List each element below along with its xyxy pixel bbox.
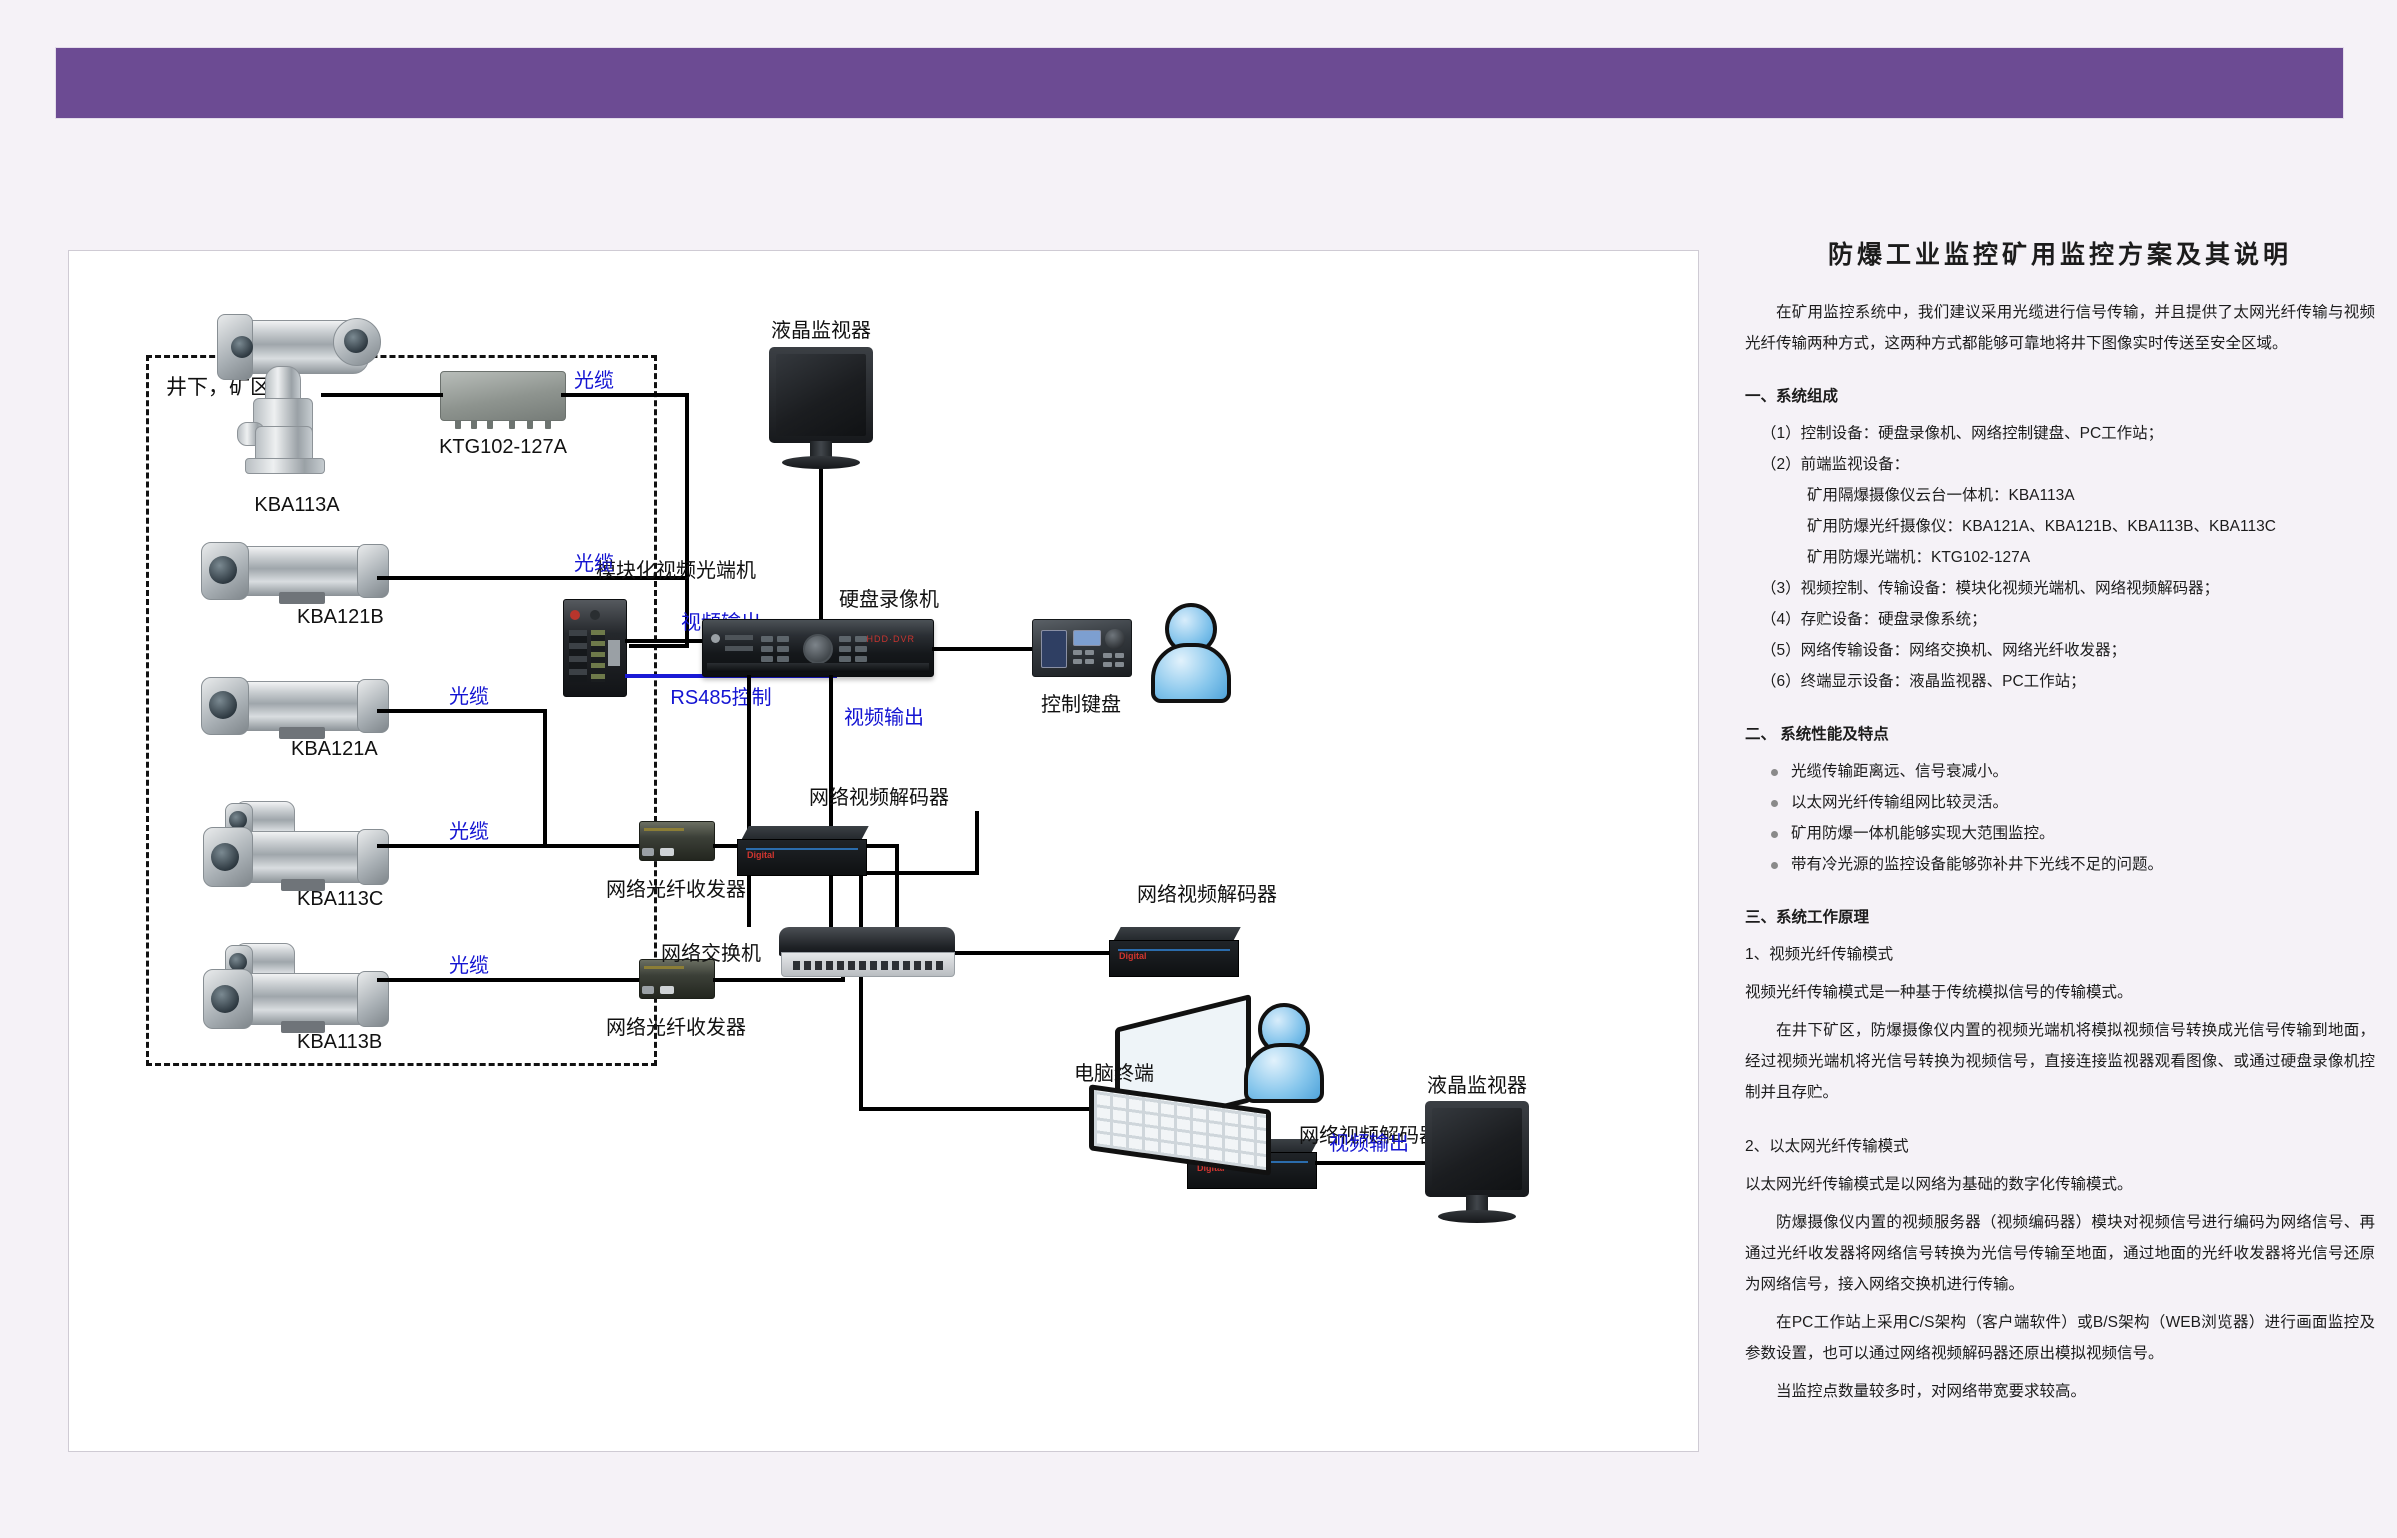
label-cable-1: 光缆 — [574, 364, 614, 393]
diagram-panel: 井下，矿区 KBA113A KTG102-127A KBA121B KBA — [68, 250, 1699, 1452]
section-1-sub-3: 矿用防爆光端机：KTG102-127A — [1745, 542, 2375, 573]
label-rs485-control: RS485控制 — [670, 681, 771, 710]
device-pc-terminal — [1089, 1011, 1269, 1161]
label-kba121a: KBA121A — [291, 738, 378, 761]
device-lcd-monitor-right — [1425, 1101, 1529, 1223]
label-video-output-2: 视频输出 — [844, 701, 924, 730]
section-1-item-5: （5）网络传输设备：网络交换机、网络光纤收发器； — [1745, 635, 2375, 666]
avatar-operator-1 — [1151, 603, 1231, 699]
device-decoder-3: Digital — [1109, 927, 1237, 975]
label-ktg102-127a: KTG102-127A — [439, 436, 567, 459]
camera-lens-icon — [344, 329, 368, 353]
device-kba113c — [197, 799, 397, 895]
wire-to-fiber-conv-1 — [543, 844, 639, 848]
label-lcd-monitor-right: 液晶监视器 — [1427, 1069, 1527, 1098]
wire-fiberconv1-riser — [895, 844, 899, 927]
device-fiber-transceiver-1 — [639, 821, 715, 861]
section-2-title: 二、 系统性能及特点 — [1745, 719, 2375, 750]
device-kba121a — [197, 671, 397, 743]
section-3-title: 三、系统工作原理 — [1745, 902, 2375, 933]
wire-kba113b — [377, 978, 639, 982]
section-2-bullet-3: 矿用防爆一体机能够实现大范围监控。 — [1745, 818, 2375, 849]
mode-2-paragraph-1: 以太网光纤传输模式是以网络为基础的数字化传输模式。 — [1745, 1169, 2375, 1200]
section-2-bullet-4: 带有冷光源的监控设备能够弥补井下光线不足的问题。 — [1745, 849, 2375, 880]
label-video-output-3: 视频输出 — [1329, 1127, 1409, 1156]
mode-2-title: 2、以太网光纤传输模式 — [1745, 1131, 2375, 1162]
mode-2-paragraph-3: 在PC工作站上采用C/S架构（客户端软件）或B/S架构（WEB浏览器）进行画面监… — [1745, 1307, 2375, 1369]
wire-dvr-down-left — [747, 675, 751, 927]
device-dvr: HDD·DVR — [702, 619, 934, 677]
label-kba121b: KBA121B — [297, 606, 384, 629]
device-lcd-monitor-top — [769, 347, 873, 469]
section-2-bullet-2: 以太网光纤传输组网比较灵活。 — [1745, 787, 2375, 818]
device-ktg102-127a — [440, 371, 566, 421]
wire-riser-lowercams — [543, 709, 547, 844]
label-fiber-transceiver-1: 网络光纤收发器 — [606, 873, 746, 902]
wire-switch-to-decoder2-h — [859, 871, 979, 875]
label-dvr: 硬盘录像机 — [839, 583, 939, 612]
mode-1-paragraph-1: 视频光纤传输模式是一种基于传统模拟信号的传输模式。 — [1745, 977, 2375, 1008]
label-kba113c: KBA113C — [297, 888, 383, 911]
label-decoder-3: 网络视频解码器 — [1137, 878, 1277, 907]
wire-monitor-to-dvr — [819, 469, 823, 621]
wire-decoder2-riser — [975, 811, 979, 873]
wire-fiberconv2-to-switch-riser — [713, 978, 845, 982]
label-pc-terminal: 电脑终端 — [1074, 1057, 1154, 1086]
label-cable-2: 光缆 — [574, 547, 614, 576]
device-modular-optical-terminal — [563, 599, 627, 697]
mode-1-paragraph-2: 在井下矿区，防爆摄像仪内置的视频光端机将模拟视频信号转换成光信号传输到地面，经过… — [1745, 1015, 2375, 1108]
mode-2-paragraph-2: 防爆摄像仪内置的视频服务器（视频编码器）模块对视频信号进行编码为网络信号、再通过… — [1745, 1207, 2375, 1300]
section-1-item-2: （2）前端监视设备： — [1745, 449, 2375, 480]
wire-bus-to-optical-terminal — [629, 644, 689, 648]
label-cable-3: 光缆 — [449, 680, 489, 709]
wire-kba113a-to-jbox — [321, 393, 443, 397]
label-kba113b: KBA113B — [297, 1031, 382, 1054]
intro-paragraph: 在矿用监控系统中，我们建议采用光缆进行信号传输，并且提供了太网光纤传输与视频光纤… — [1745, 297, 2375, 359]
wire-to-pc-terminal — [859, 1107, 1105, 1111]
wire-dvr-to-keyboard — [932, 647, 1032, 651]
wire-switch-down-pc — [859, 977, 863, 1111]
section-1-item-3: （3）视频控制、传输设备：模块化视频光端机、网络视频解码器； — [1745, 573, 2375, 604]
label-modular-optical-terminal: 模块化视频光端机 — [596, 554, 756, 583]
section-1-item-1: （1）控制设备：硬盘录像机、网络控制键盘、PC工作站； — [1745, 418, 2375, 449]
section-1-item-4: （4）存贮设备：硬盘录像系统； — [1745, 604, 2375, 635]
wire-switch-up-2 — [859, 871, 863, 927]
mode-2-paragraph-4: 当监控点数量较多时，对网络带宽要求较高。 — [1745, 1376, 2375, 1407]
label-network-switch: 网络交换机 — [661, 937, 761, 966]
label-lcd-monitor-top: 液晶监视器 — [771, 314, 871, 343]
label-cable-4: 光缆 — [449, 815, 489, 844]
header-banner — [55, 47, 2344, 119]
mode-1-title: 1、视频光纤传输模式 — [1745, 939, 2375, 970]
label-kba113a: KBA113A — [254, 494, 339, 517]
section-1-title: 一、系统组成 — [1745, 381, 2375, 412]
section-1-item-6: （6）终端显示设备：液晶监视器、PC工作站； — [1745, 666, 2375, 697]
device-control-keyboard — [1032, 619, 1132, 677]
section-1-sub-2: 矿用防爆光纤摄像仪：KBA121A、KBA121B、KBA113B、KBA113… — [1745, 511, 2375, 542]
wire-kba113c — [377, 844, 545, 848]
label-decoder-2: 网络视频解码器 — [809, 781, 949, 810]
wire-switch-to-decoder3 — [955, 951, 1109, 955]
wire-jbox-to-riser — [561, 393, 689, 397]
section-2-bullet-1: 光缆传输距离远、信号衰减小。 — [1745, 756, 2375, 787]
wire-kba121a — [377, 709, 545, 713]
document-title: 防爆工业监控矿用监控方案及其说明 — [1745, 235, 2375, 271]
device-network-switch — [779, 927, 955, 977]
section-1-sub-1: 矿用隔爆摄像仪云台一体机：KBA113A — [1745, 480, 2375, 511]
document-column: 防爆工业监控矿用监控方案及其说明 在矿用监控系统中，我们建议采用光缆进行信号传输… — [1745, 235, 2375, 1414]
device-kba121b — [197, 536, 397, 608]
device-decoder-2: Digital — [737, 826, 865, 874]
device-kba113b — [197, 941, 397, 1037]
label-control-keyboard: 控制键盘 — [1041, 688, 1121, 717]
wire-decoder1-to-monitor — [1315, 1161, 1425, 1165]
wire-dvr-down-video-out-2 — [829, 675, 833, 737]
label-fiber-transceiver-2: 网络光纤收发器 — [606, 1011, 746, 1040]
avatar-operator-2 — [1244, 1003, 1324, 1099]
label-cable-5: 光缆 — [449, 949, 489, 978]
